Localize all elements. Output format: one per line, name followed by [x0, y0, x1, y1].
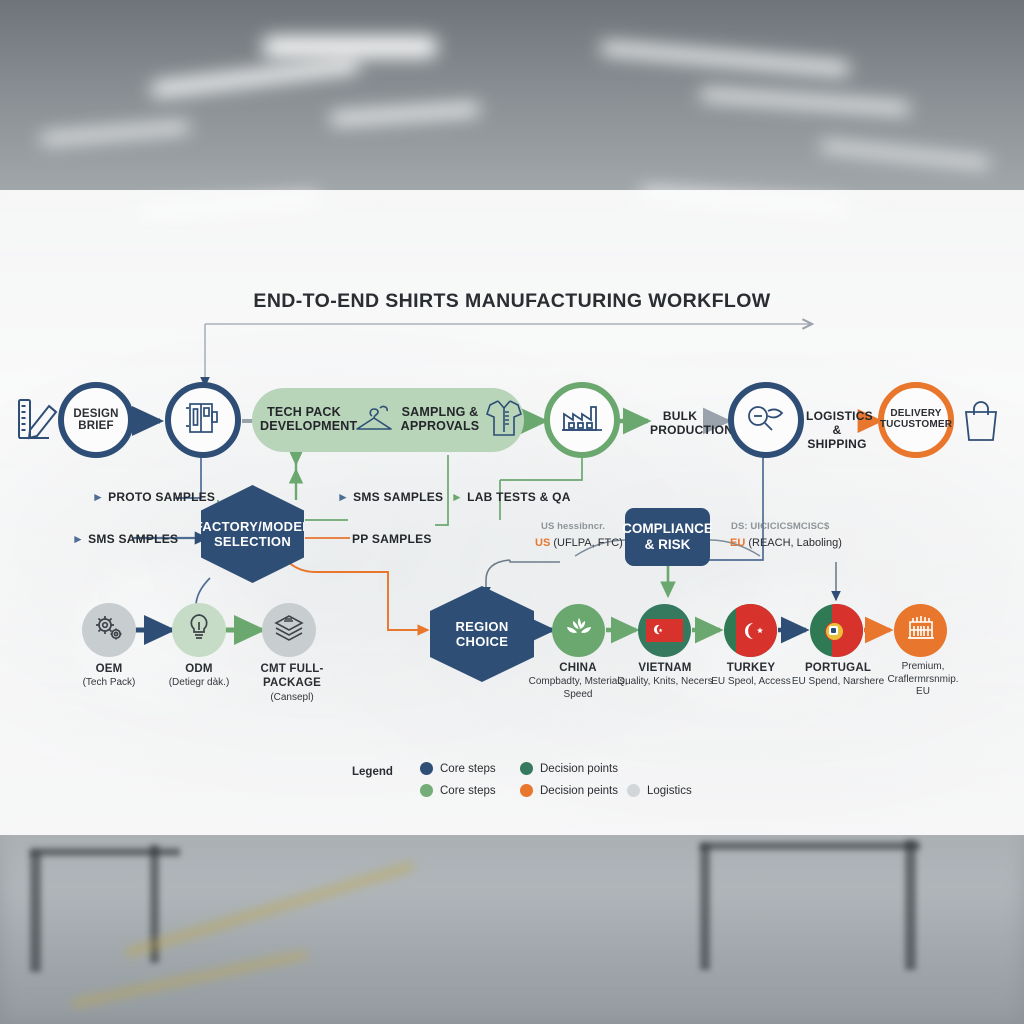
legend-label-4: Logistics — [647, 785, 692, 797]
caption-region-vietnam: VIETNAM Quality, Knits, Necers — [617, 661, 713, 689]
node-tech-pack-icon-circle[interactable] — [165, 382, 241, 458]
ruler-pencil-icon — [16, 396, 60, 451]
caption-region-premium: Premium, Craflermrsnmip. EU — [886, 661, 960, 699]
legend-item-1: Decision points — [520, 762, 618, 775]
polo-shirt-icon — [484, 396, 524, 445]
legend-item-4: Logistics — [627, 784, 692, 797]
legend-swatch-2 — [420, 784, 433, 797]
legend-item-2: Core steps — [420, 784, 496, 797]
node-compliance-risk[interactable]: COMPLIANCE & RISK — [625, 508, 710, 566]
shopping-bag-icon — [960, 398, 1002, 449]
flow-label-pp-samples: PP SAMPLES — [352, 532, 432, 546]
node-region-vietnam[interactable] — [638, 604, 691, 657]
infographic-stage: END-TO-END SHIRTS MANUFACTURING WORKFLOW — [0, 0, 1024, 1024]
legend-swatch-4 — [627, 784, 640, 797]
legend-swatch-0 — [420, 762, 433, 775]
clothes-hanger-icon — [350, 401, 398, 440]
magnifier-inspection-icon — [744, 401, 788, 440]
fabric-stack-icon — [272, 613, 306, 648]
legend-swatch-3 — [520, 784, 533, 797]
factory-icon — [560, 400, 604, 441]
compliance-left-region: US (UFLPA, FTC) — [535, 537, 623, 549]
region-choice-label: REGION CHOICE — [430, 619, 534, 650]
loom-icon — [906, 613, 936, 648]
caption-model-oem: OEM (Tech Pack) — [64, 662, 154, 690]
pill-tech-pack-label: TECH PACK DEVELOPMENT — [260, 406, 348, 434]
caption-model-cmt: CMT FULL-PACKAGE (Cansepl) — [246, 662, 338, 704]
node-model-cmt[interactable] — [262, 603, 316, 657]
compliance-risk-label: COMPLIANCE & RISK — [622, 521, 713, 552]
gears-icon — [93, 613, 125, 648]
caption-region-portugal: PORTUGAL EU Spend, Narshere — [790, 661, 886, 689]
tech-pack-document-icon — [182, 400, 224, 441]
flow-label-sms-samples-top: ►SMS SAMPLES — [337, 490, 443, 504]
legend-item-0: Core steps — [420, 762, 496, 775]
compliance-left-ghost-text: US hessibncr. — [541, 521, 605, 532]
legend-label-2: Core steps — [440, 785, 496, 797]
node-bulk-production-icon-circle[interactable] — [544, 382, 620, 458]
legend-swatch-1 — [520, 762, 533, 775]
pill-sampling-label: SAMPLNG & APPROVALS — [400, 406, 480, 434]
node-delivery-to-customer[interactable]: DELIVERY TUCUSTOMER — [878, 382, 954, 458]
node-bulk-production-label: BULK PRODUCTION — [650, 410, 710, 438]
node-region-portugal[interactable] — [810, 604, 863, 657]
flow-label-lab-tests-qa: ►LAB TESTS & QA — [451, 490, 571, 504]
compliance-right-ghost-text: DS: UICICICSMCISC$ — [731, 521, 829, 532]
lightbulb-icon — [186, 612, 212, 649]
node-logistics-label: LOGISTICS & SHIPPING — [806, 410, 868, 451]
legend-label-0: Core steps — [440, 763, 496, 775]
caption-region-china: CHINA Compbadty, Msterials, Speed — [528, 661, 628, 701]
legend-item-3: Decision peints — [520, 784, 618, 797]
caption-model-odm: ODM (Detiegr dàk.) — [154, 662, 244, 690]
node-design-brief[interactable]: DESIGN BRIEF — [58, 382, 134, 458]
node-region-turkey[interactable] — [724, 604, 777, 657]
node-design-brief-label: DESIGN BRIEF — [64, 408, 128, 433]
node-delivery-label: DELIVERY TUCUSTOMER — [880, 409, 952, 431]
node-region-china[interactable] — [552, 604, 605, 657]
lotus-icon — [564, 616, 594, 645]
caption-region-turkey: TURKEY EU Speol, Access — [705, 661, 797, 689]
flow-label-sms-samples-left: ►SMS SAMPLES — [72, 532, 178, 546]
factory-model-selection-label: FACTORY/MODEL SELECTION — [195, 519, 311, 550]
legend-label-1: Decision points — [540, 763, 618, 775]
node-model-odm[interactable] — [172, 603, 226, 657]
node-inspection-icon-circle[interactable] — [728, 382, 804, 458]
flow-label-proto-samples: ►PROTO SAMPLES — [92, 490, 215, 504]
legend-title: Legend — [352, 766, 393, 778]
node-region-premium-eu[interactable] — [894, 604, 947, 657]
legend-label-3: Decision peints — [540, 785, 618, 797]
node-model-oem[interactable] — [82, 603, 136, 657]
compliance-right-region: EU (REACH, Laboling) — [730, 537, 842, 549]
tech-pack-sampling-pill[interactable]: TECH PACK DEVELOPMENT SAMPLNG & APPROVAL… — [252, 388, 524, 452]
connector-lines — [0, 0, 1024, 1024]
